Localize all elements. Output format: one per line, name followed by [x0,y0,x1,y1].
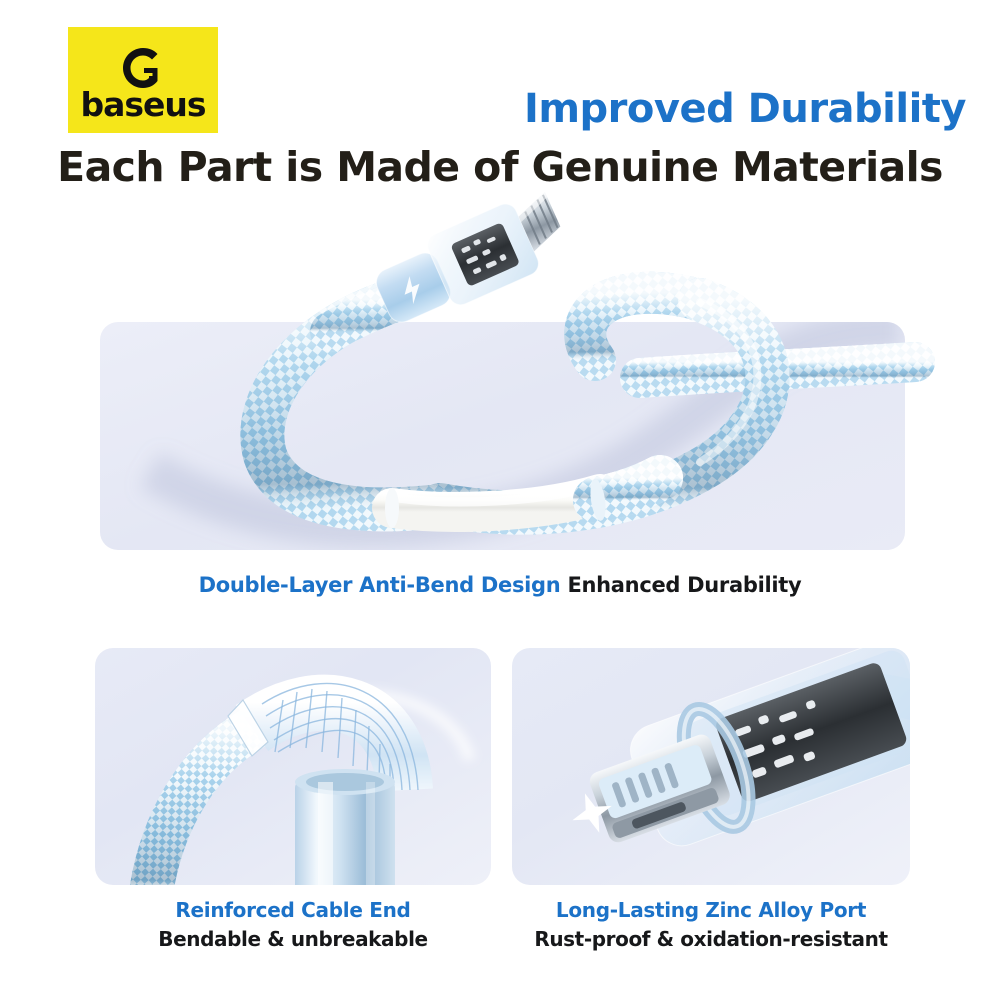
page-title: Each Part is Made of Genuine Materials [40,145,960,190]
feature-right-subtitle: Rust-proof & oxidation-resistant [512,927,910,953]
feature-left-subtitle: Bendable & unbreakable [95,927,491,953]
page-eyebrow: Improved Durability [0,88,966,130]
product-feature-page: baseus Improved Durability Each Part is … [0,0,1000,1000]
feature-card-right [512,648,910,885]
feature-right-title: Long-Lasting Zinc Alloy Port [512,898,910,924]
feature-card-left [95,648,491,885]
feature-left-title: Reinforced Cable End [95,898,491,924]
main-feature-card [100,322,905,550]
feature-caption-left: Reinforced Cable End Bendable & unbreaka… [95,898,491,952]
feature-caption-right: Long-Lasting Zinc Alloy Port Rust-proof … [512,898,910,952]
main-caption-rest: Enhanced Durability [560,573,801,597]
main-caption-highlight: Double-Layer Anti-Bend Design [199,573,561,597]
lightning-connector-main [330,186,573,334]
main-feature-caption: Double-Layer Anti-Bend Design Enhanced D… [0,573,1000,598]
